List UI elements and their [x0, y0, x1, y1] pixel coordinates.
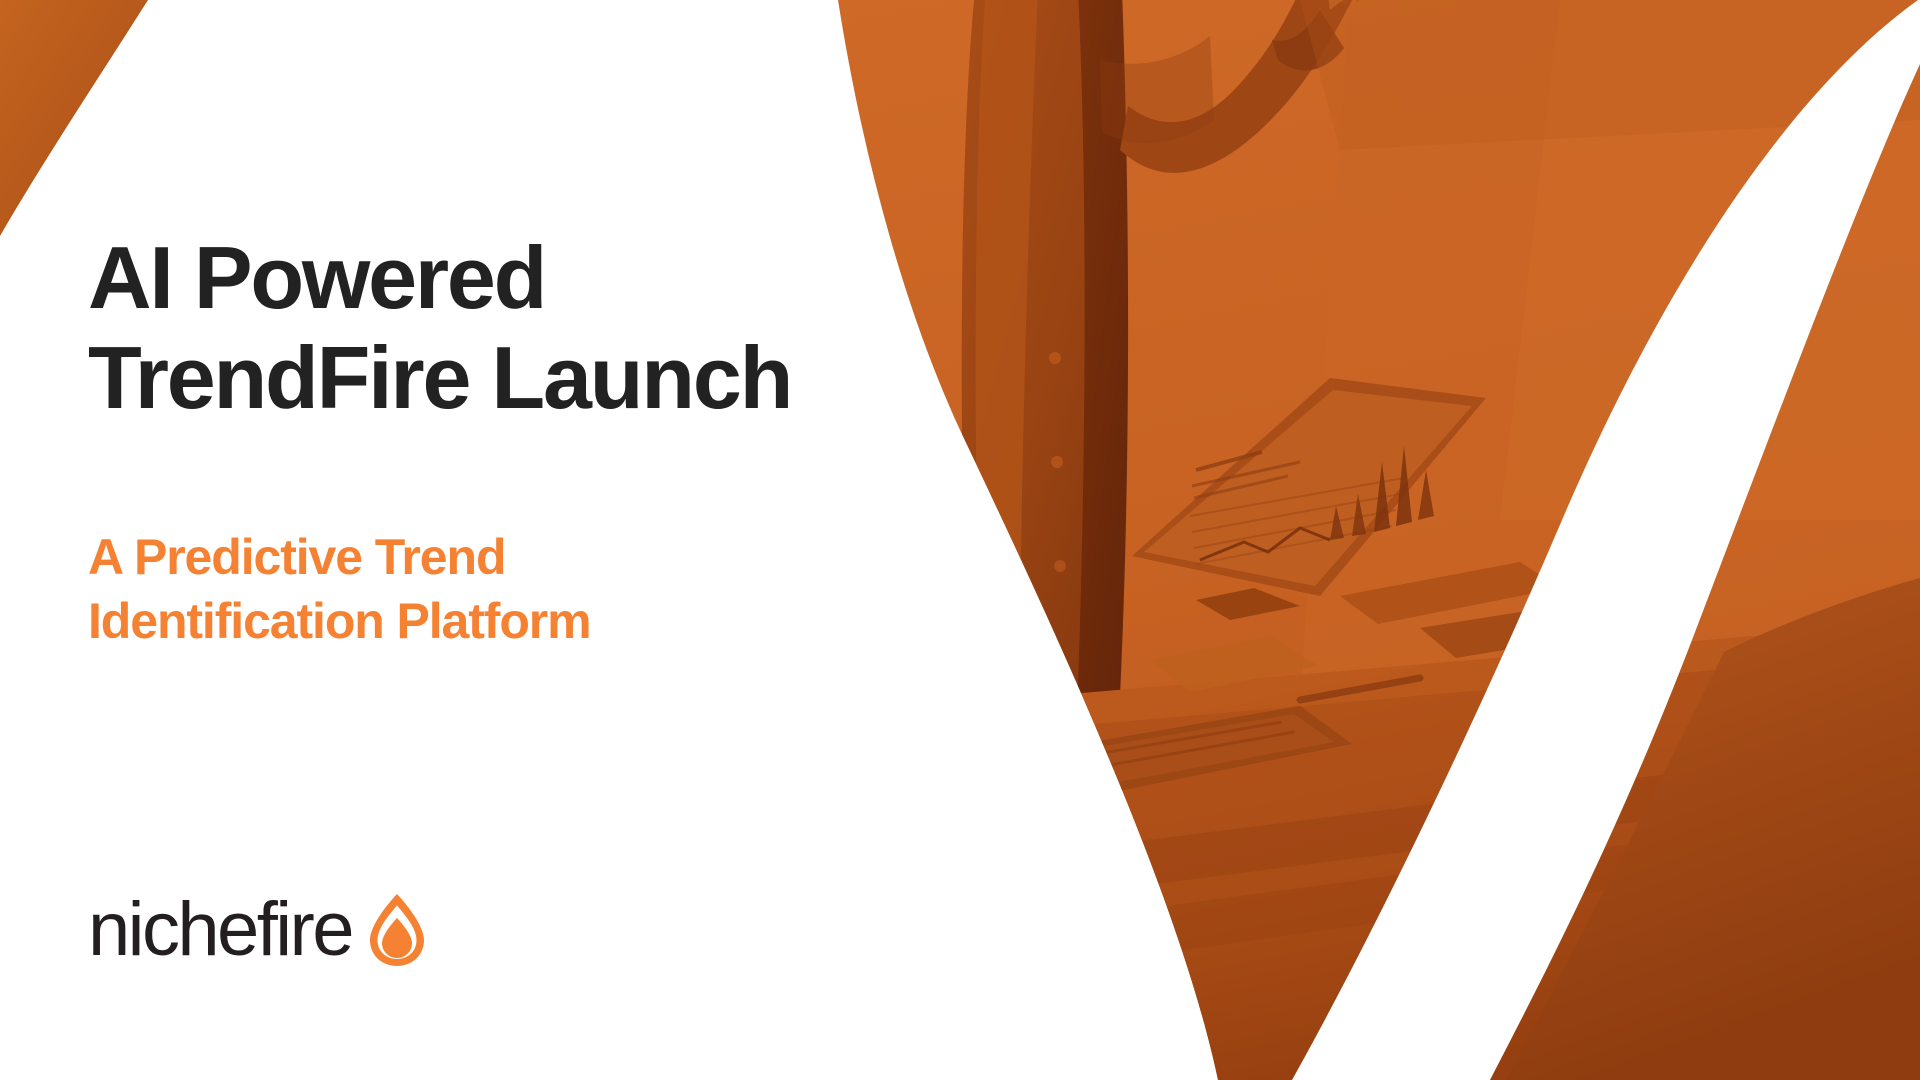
headline-line-2: TrendFire Launch	[88, 328, 791, 428]
slide-canvas: AI Powered TrendFire Launch A Predictive…	[0, 0, 1920, 1080]
page-subtitle: A Predictive Trend Identification Platfo…	[88, 525, 591, 653]
subhead-line-1: A Predictive Trend	[88, 525, 591, 589]
text-content: AI Powered TrendFire Launch A Predictive…	[88, 0, 948, 1080]
brand-logo: nichefire	[88, 892, 428, 968]
logo-wordmark: nichefire	[88, 892, 352, 968]
flame-icon	[366, 892, 428, 968]
subhead-line-2: Identification Platform	[88, 589, 591, 653]
headline-line-1: AI Powered	[88, 228, 791, 328]
page-title: AI Powered TrendFire Launch	[88, 228, 791, 428]
